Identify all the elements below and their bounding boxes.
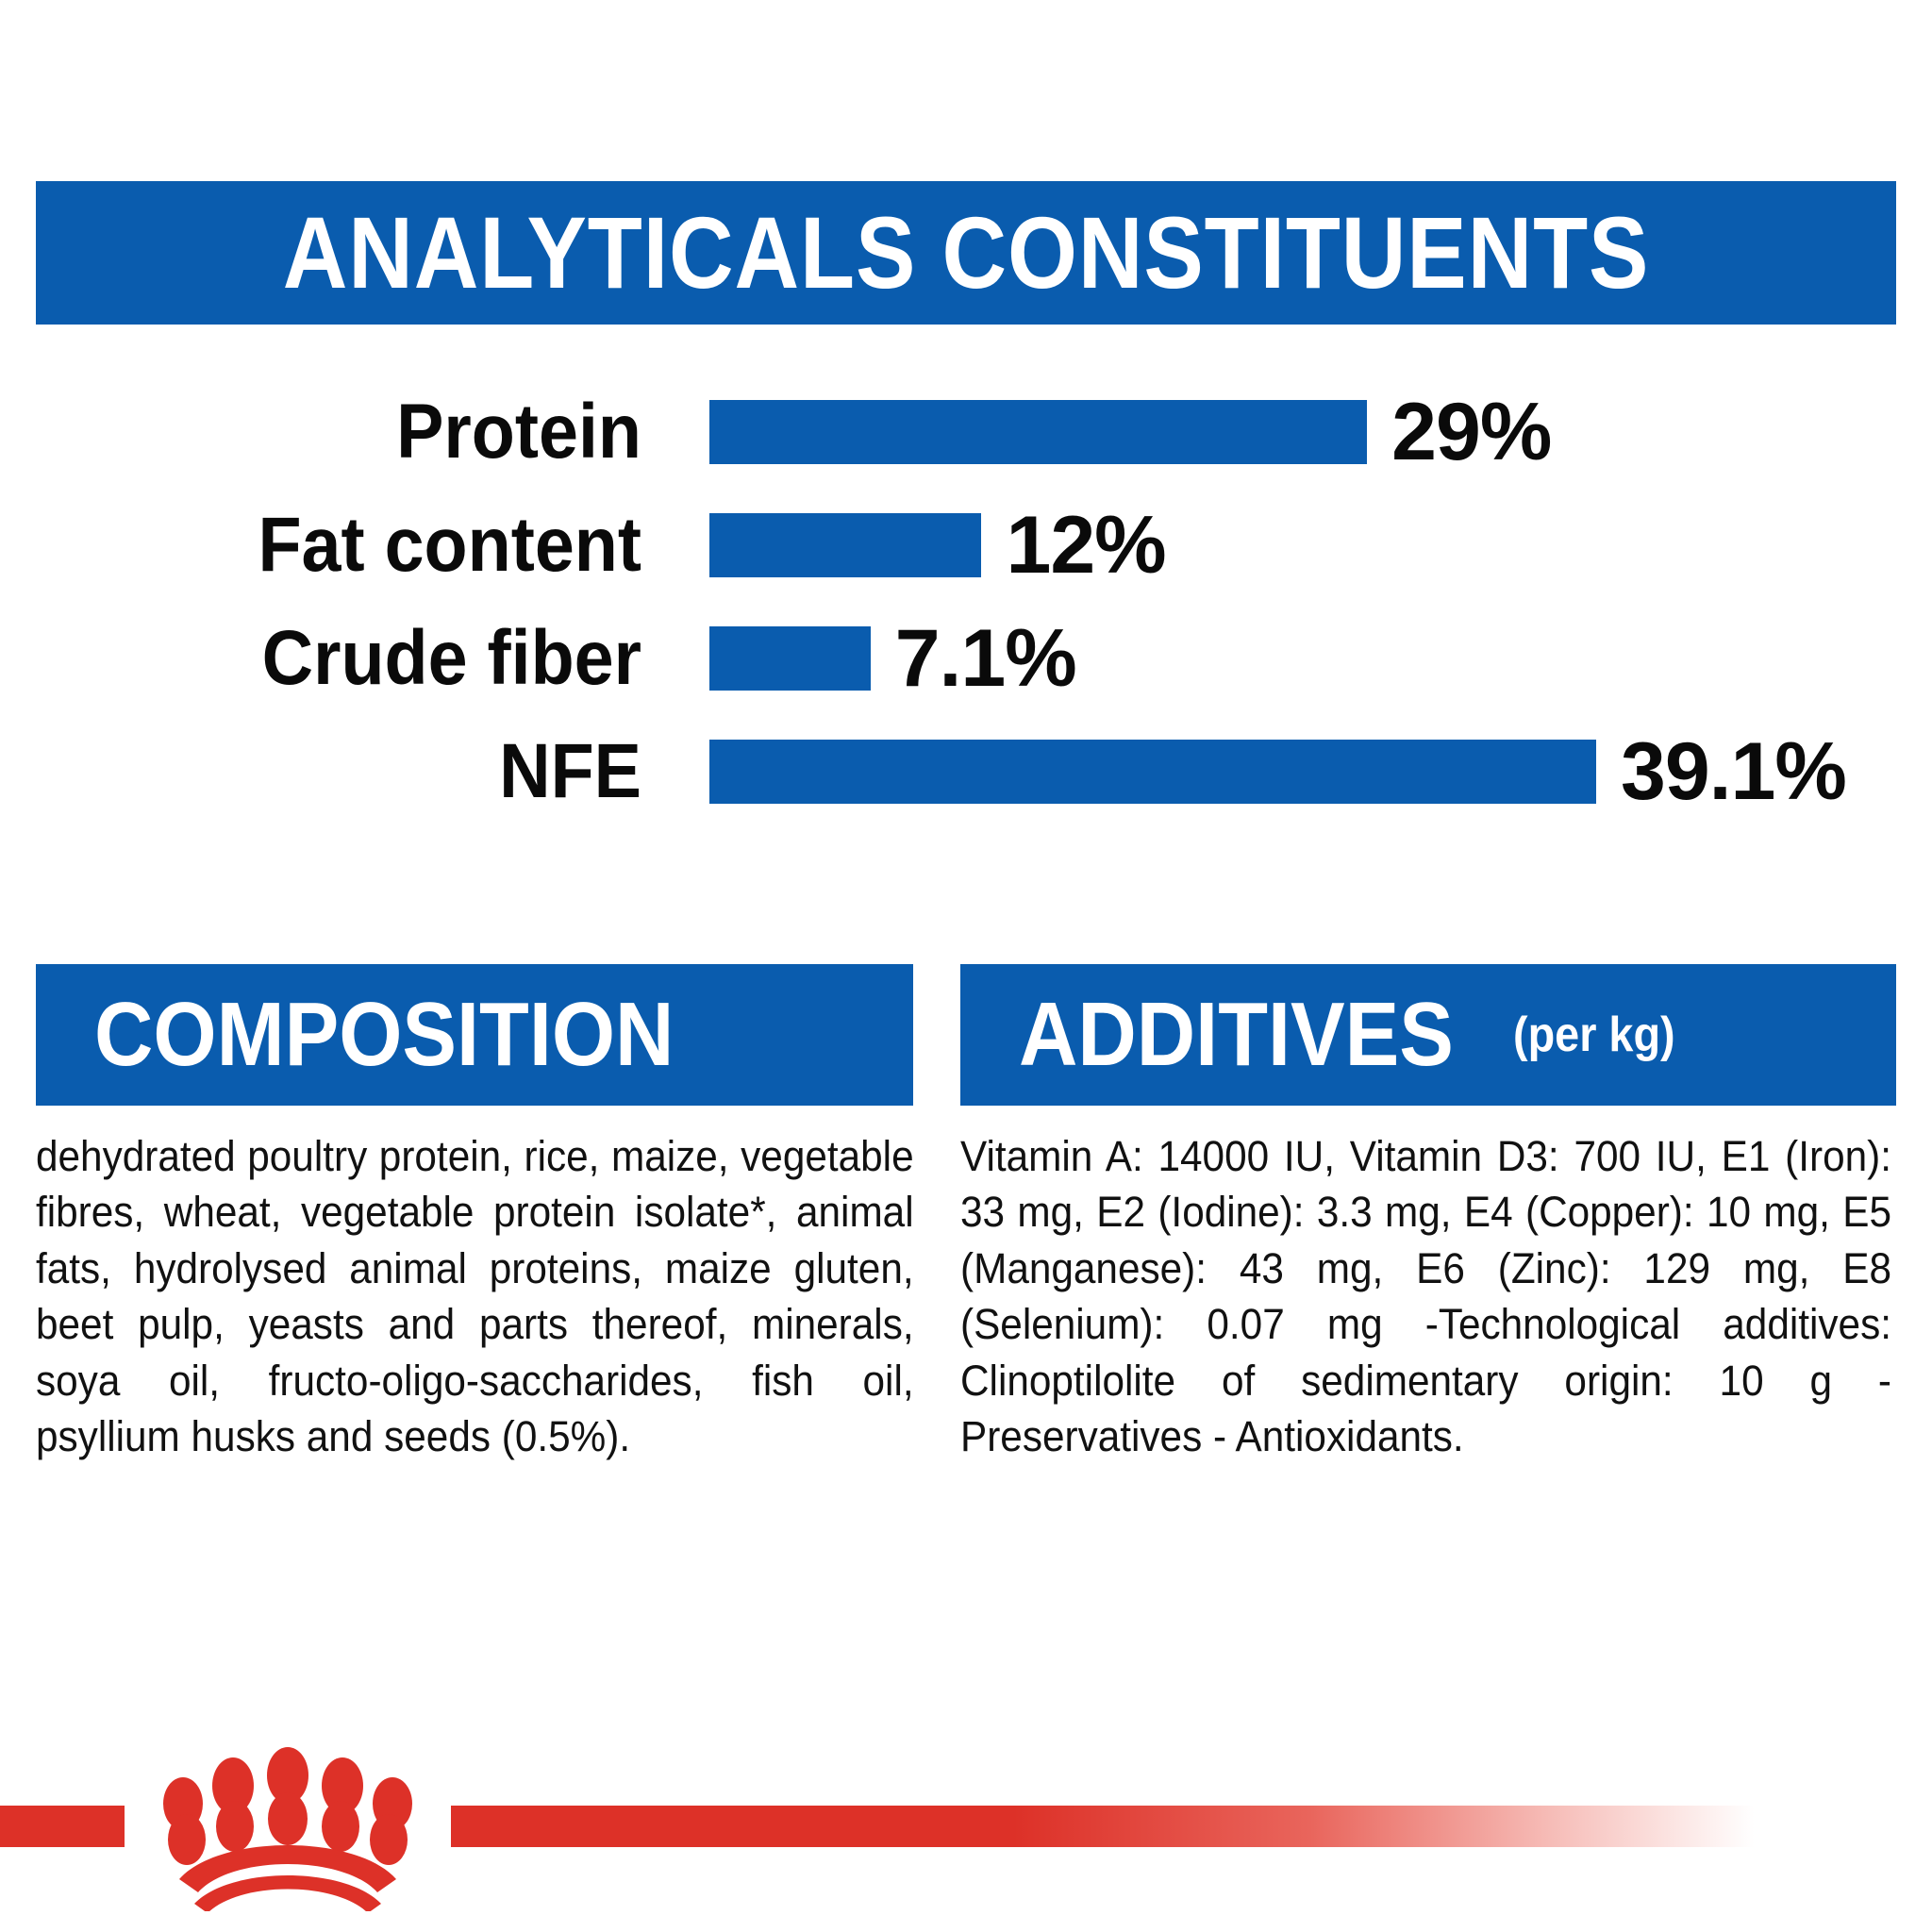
chart-bar-crude-fiber — [709, 626, 871, 691]
chart-label-fat-content: Fat content — [104, 507, 641, 584]
chart-bar-container: 39.1% — [709, 731, 1932, 812]
chart-bar-container: 7.1% — [709, 618, 1932, 699]
composition-banner: COMPOSITION — [36, 964, 913, 1106]
analyticals-constituents-banner: ANALYTICALS CONSTITUENTS — [36, 181, 1896, 325]
chart-bar-nfe — [709, 740, 1596, 804]
page-title: ANALYTICALS CONSTITUENTS — [283, 202, 1650, 304]
label-page: ANALYTICALS CONSTITUENTS Protein 29% Fat… — [0, 0, 1932, 1932]
composition-title: COMPOSITION — [94, 990, 674, 1080]
chart-value-nfe: 39.1% — [1621, 731, 1846, 812]
brand-footer — [0, 1785, 1932, 1860]
royal-canin-crown-icon — [125, 1736, 451, 1911]
additives-subtitle: (per kg) — [1513, 1010, 1675, 1059]
chart-row: Crude fiber 7.1% — [0, 602, 1932, 715]
analyticals-bar-chart: Protein 29% Fat content 12% Crude fiber … — [0, 375, 1932, 885]
chart-row: Fat content 12% — [0, 489, 1932, 602]
chart-value-crude-fiber: 7.1% — [895, 618, 1076, 699]
chart-bar-fat-content — [709, 513, 981, 577]
chart-bar-protein — [709, 400, 1367, 464]
chart-value-fat-content: 12% — [1006, 505, 1165, 586]
additives-body: Vitamin A: 14000 IU, Vitamin D3: 700 IU,… — [960, 1128, 1891, 1464]
footer-rule-left — [0, 1806, 125, 1847]
chart-row: Protein 29% — [0, 375, 1932, 489]
chart-bar-container: 29% — [709, 391, 1932, 473]
section-header-row: COMPOSITION ADDITIVES (per kg) — [0, 964, 1932, 1106]
footer-rule-right — [451, 1806, 1932, 1847]
additives-banner: ADDITIVES (per kg) — [960, 964, 1896, 1106]
chart-label-crude-fiber: Crude fiber — [104, 620, 641, 697]
composition-body: dehydrated poultry protein, rice, maize,… — [36, 1128, 914, 1464]
chart-label-protein: Protein — [104, 393, 641, 471]
additives-title: ADDITIVES — [1019, 990, 1454, 1080]
chart-value-protein: 29% — [1391, 391, 1551, 473]
chart-label-nfe: NFE — [104, 733, 641, 810]
chart-bar-container: 12% — [709, 505, 1932, 586]
chart-row: NFE 39.1% — [0, 715, 1932, 828]
